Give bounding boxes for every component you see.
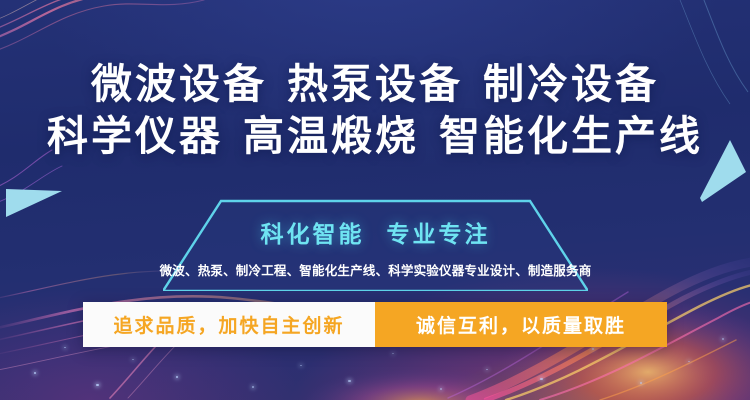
bottom-bar-left-label: 追求品质，加快自主创新 (83, 302, 375, 347)
headline-line2-item1: 科学仪器 (47, 112, 223, 160)
triangle-right-icon-left (6, 183, 62, 217)
slogan-row: 科化智能专业专注 (261, 215, 491, 249)
bottom-slogan-bar: 追求品质，加快自主创新 诚信互利，以质量取胜 (83, 302, 667, 347)
headline-line1-item1: 微波设备 (91, 60, 267, 108)
headline-line2-item3: 智能化生产线 (439, 112, 703, 160)
slogan-panel: 科化智能专业专注 微波、热泵、制冷工程、智能化生产线、科学实验仪器专业设计、制造… (163, 199, 588, 291)
headline-line2-item2: 高温煅烧 (243, 112, 419, 160)
promo-banner: 微波设备热泵设备制冷设备 科学仪器高温煅烧智能化生产线 科化智能专业专注 微波、… (0, 0, 750, 400)
slogan-right: 专业专注 (387, 222, 491, 248)
panel-description: 微波、热泵、制冷工程、智能化生产线、科学实验仪器专业设计、制造服务商 (160, 260, 592, 279)
headline-line1-item3: 制冷设备 (483, 60, 659, 108)
slogan-left: 科化智能 (261, 222, 365, 248)
bottom-bar-right-label: 诚信互利，以质量取胜 (375, 302, 667, 347)
page-title: 微波设备热泵设备制冷设备 科学仪器高温煅烧智能化生产线 (0, 62, 750, 160)
headline-line1-item2: 热泵设备 (287, 60, 463, 108)
